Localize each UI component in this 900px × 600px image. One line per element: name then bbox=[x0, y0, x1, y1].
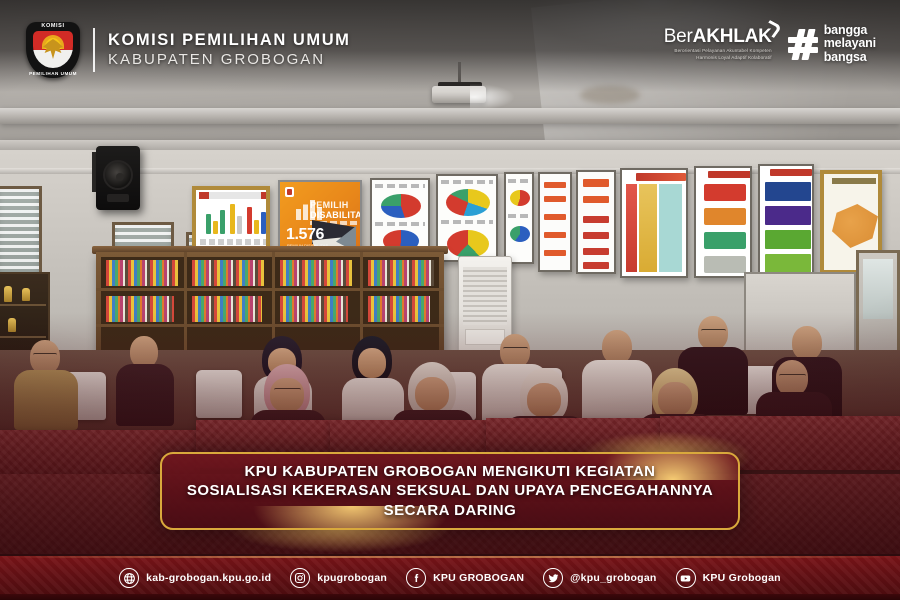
twitter-icon bbox=[543, 568, 563, 588]
globe-icon bbox=[119, 568, 139, 588]
kpu-logo-bottom-text: PEMILIHAN UMUM bbox=[26, 71, 80, 76]
hashtag-icon bbox=[788, 29, 818, 60]
berakhlak-wordmark: BerAKHLAK bbox=[664, 27, 772, 46]
footer-item-website[interactable]: kab-grobogan.kpu.go.id bbox=[119, 568, 271, 588]
kpu-logo-top-text: KOMISI bbox=[26, 23, 80, 29]
books-row bbox=[280, 260, 352, 286]
wall-poster-color-bands bbox=[758, 164, 814, 278]
footer-item-instagram[interactable]: kpugrobogan bbox=[290, 568, 387, 588]
flyer-canvas: PEMILIH DISABILITAS 1.576 PEMILIH DISABI… bbox=[0, 0, 900, 600]
bangga-wordmark: bangga melayani bangsa bbox=[824, 24, 876, 64]
header-bar: KOMISI PEMILIHAN UMUM KOMISI PEMILIHAN U… bbox=[0, 0, 900, 92]
trophy bbox=[8, 318, 16, 332]
header-campaign-logos: BerAKHLAK Berorientasi Pelayanan Akuntab… bbox=[664, 24, 876, 64]
header-brand-group: KOMISI PEMILIHAN UMUM KOMISI PEMILIHAN U… bbox=[26, 22, 350, 78]
wall-poster-table-matrix bbox=[620, 168, 688, 278]
trophy bbox=[4, 286, 12, 302]
books-row bbox=[106, 296, 174, 322]
chair bbox=[196, 370, 242, 418]
poster-title-line1: PEMILIH bbox=[310, 200, 349, 210]
youtube-icon bbox=[676, 568, 696, 588]
bangga-line3: bangsa bbox=[824, 51, 876, 64]
footer-label-instagram: kpugrobogan bbox=[317, 572, 387, 584]
books-row bbox=[106, 260, 178, 286]
caption-text: KPU KABUPATEN GROBOGAN MENGIKUTI KEGIATA… bbox=[169, 462, 731, 521]
books-row bbox=[280, 296, 348, 322]
footer-label-youtube: KPU Grobogan bbox=[703, 572, 781, 584]
berakhlak-tagline-line1: Berorientasi Pelayanan Akuntabel Kompete… bbox=[664, 48, 772, 55]
footer-label-website: kab-grobogan.kpu.go.id bbox=[146, 572, 271, 584]
books-row bbox=[192, 296, 262, 322]
berakhlak-prefix: Ber bbox=[664, 26, 693, 47]
books-row bbox=[368, 296, 430, 322]
wall-poster-narrow-chart bbox=[504, 172, 534, 264]
regency-name: KABUPATEN GROBOGAN bbox=[108, 51, 350, 69]
caption-line-1: KPU KABUPATEN GROBOGAN MENGIKUTI KEGIATA… bbox=[187, 462, 713, 482]
berakhlak-logo: BerAKHLAK Berorientasi Pelayanan Akuntab… bbox=[664, 27, 772, 61]
books-row bbox=[368, 260, 434, 286]
wall-poster-bar-chart bbox=[192, 186, 270, 252]
wall-poster-flowchart bbox=[538, 172, 572, 272]
berakhlak-tagline: Berorientasi Pelayanan Akuntabel Kompete… bbox=[664, 48, 772, 61]
header-divider bbox=[93, 28, 95, 72]
trophy bbox=[22, 288, 30, 301]
wall-poster-stacked-blocks bbox=[694, 166, 752, 278]
books-row bbox=[192, 260, 264, 286]
ceiling-beam bbox=[0, 108, 900, 124]
caption-line-3: SECARA DARING bbox=[187, 501, 713, 521]
caption-line-2: SOSIALISASI KEKERASAN SEKSUAL DAN UPAYA … bbox=[187, 481, 713, 501]
facebook-icon bbox=[406, 568, 426, 588]
footer-base-strip bbox=[0, 594, 900, 600]
wall-poster-flowchart bbox=[576, 170, 616, 274]
bangga-line2: melayani bbox=[824, 37, 876, 50]
bangga-melayani-bangsa-logo: bangga melayani bangsa bbox=[788, 24, 876, 64]
berakhlak-tagline-line2: Harmonis Loyal Adaptif Kolaboratif bbox=[664, 55, 772, 62]
window-louver bbox=[0, 186, 42, 282]
footer-item-youtube[interactable]: KPU Grobogan bbox=[676, 568, 781, 588]
footer-item-facebook[interactable]: KPU GROBOGAN bbox=[406, 568, 524, 588]
wall-speaker bbox=[96, 146, 140, 210]
poster-title-line2: DISABILITAS bbox=[310, 210, 362, 220]
poster-kpu-logo bbox=[285, 187, 294, 197]
instagram-icon bbox=[290, 568, 310, 588]
header-title-group: KOMISI PEMILIHAN UMUM KABUPATEN GROBOGAN bbox=[108, 31, 350, 68]
organization-name: KOMISI PEMILIHAN UMUM bbox=[108, 31, 350, 50]
berakhlak-main: AKHLAK bbox=[693, 26, 772, 47]
kpu-logo: KOMISI PEMILIHAN UMUM bbox=[26, 22, 80, 78]
footer-label-facebook: KPU GROBOGAN bbox=[433, 572, 524, 584]
speaker-cone bbox=[103, 160, 133, 190]
footer-item-twitter[interactable]: @kpu_grobogan bbox=[543, 568, 656, 588]
footer-label-twitter: @kpu_grobogan bbox=[570, 572, 656, 584]
speaker-tweeter bbox=[107, 194, 129, 202]
poster-figure: 1.576 bbox=[286, 226, 324, 244]
caption-banner: KPU KABUPATEN GROBOGAN MENGIKUTI KEGIATA… bbox=[160, 452, 740, 530]
